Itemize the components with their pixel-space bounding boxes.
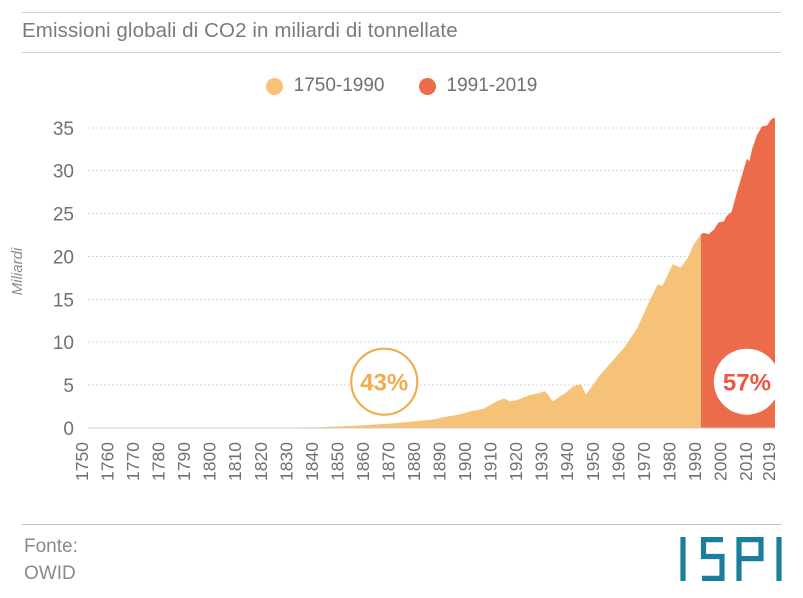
chart-plot-area: 05101520253035 Miliardi 1750176017701780… bbox=[0, 100, 803, 510]
source-credit: Fonte: OWID bbox=[24, 534, 78, 588]
svg-text:1930: 1930 bbox=[532, 442, 552, 481]
svg-text:1790: 1790 bbox=[174, 442, 194, 481]
svg-text:1860: 1860 bbox=[353, 442, 373, 481]
y-axis-title: Miliardi bbox=[9, 247, 26, 295]
svg-text:20: 20 bbox=[53, 247, 74, 268]
svg-text:30: 30 bbox=[53, 162, 74, 183]
percent-badge-modern-label: 57% bbox=[723, 370, 771, 397]
svg-text:1850: 1850 bbox=[327, 442, 347, 481]
svg-text:1940: 1940 bbox=[557, 442, 577, 481]
circle-dot-icon bbox=[419, 78, 436, 95]
svg-text:1900: 1900 bbox=[455, 442, 475, 481]
legend-item-historic[interactable]: 1750-1990 bbox=[266, 75, 385, 97]
source-value: OWID bbox=[24, 561, 78, 588]
co2-area-chart: 05101520253035 Miliardi 1750176017701780… bbox=[0, 100, 803, 510]
svg-text:1950: 1950 bbox=[583, 442, 603, 481]
chart-legend: 1750-1990 1991-2019 bbox=[0, 72, 803, 100]
svg-text:1890: 1890 bbox=[430, 442, 450, 481]
x-axis-labels: 1750176017701780179018001810182018301840… bbox=[72, 442, 779, 481]
ispi-logo bbox=[678, 533, 786, 585]
y-axis-labels: 05101520253035 bbox=[53, 119, 74, 440]
svg-text:0: 0 bbox=[63, 419, 74, 440]
svg-text:1960: 1960 bbox=[608, 442, 628, 481]
svg-text:Miliardi: Miliardi bbox=[9, 247, 26, 295]
svg-text:5: 5 bbox=[63, 376, 74, 397]
svg-text:1820: 1820 bbox=[251, 442, 271, 481]
svg-text:35: 35 bbox=[53, 119, 74, 140]
svg-text:1800: 1800 bbox=[200, 442, 220, 481]
svg-text:1880: 1880 bbox=[404, 442, 424, 481]
svg-text:1870: 1870 bbox=[378, 442, 398, 481]
svg-text:15: 15 bbox=[53, 290, 74, 311]
svg-text:1990: 1990 bbox=[685, 442, 705, 481]
svg-text:1750: 1750 bbox=[72, 442, 92, 481]
circle-dot-icon bbox=[266, 78, 283, 95]
svg-text:1970: 1970 bbox=[634, 442, 654, 481]
header-divider-bottom bbox=[22, 52, 781, 53]
chart-card: Emissioni globali di CO2 in miliardi di … bbox=[0, 0, 803, 598]
legend-label-historic: 1750-1990 bbox=[294, 75, 385, 97]
svg-text:1830: 1830 bbox=[276, 442, 296, 481]
page-title: Emissioni globali di CO2 in miliardi di … bbox=[22, 19, 762, 43]
svg-text:2000: 2000 bbox=[710, 442, 730, 481]
svg-text:1770: 1770 bbox=[123, 442, 143, 481]
svg-text:1840: 1840 bbox=[302, 442, 322, 481]
legend-label-modern: 1991-2019 bbox=[447, 75, 538, 97]
svg-text:2010: 2010 bbox=[736, 442, 756, 481]
svg-text:1780: 1780 bbox=[149, 442, 169, 481]
svg-text:10: 10 bbox=[53, 333, 74, 354]
area-series-group bbox=[88, 118, 775, 428]
svg-text:1760: 1760 bbox=[98, 442, 118, 481]
svg-text:1810: 1810 bbox=[225, 442, 245, 481]
source-label: Fonte: bbox=[24, 534, 78, 561]
footer-divider bbox=[22, 524, 781, 525]
legend-item-modern[interactable]: 1991-2019 bbox=[419, 75, 538, 97]
svg-text:1910: 1910 bbox=[481, 442, 501, 481]
svg-text:1980: 1980 bbox=[659, 442, 679, 481]
percent-badge-historic-label: 43% bbox=[360, 370, 408, 397]
svg-text:25: 25 bbox=[53, 205, 74, 226]
header-divider-top bbox=[22, 12, 781, 13]
svg-text:2019: 2019 bbox=[759, 442, 779, 481]
svg-text:1920: 1920 bbox=[506, 442, 526, 481]
